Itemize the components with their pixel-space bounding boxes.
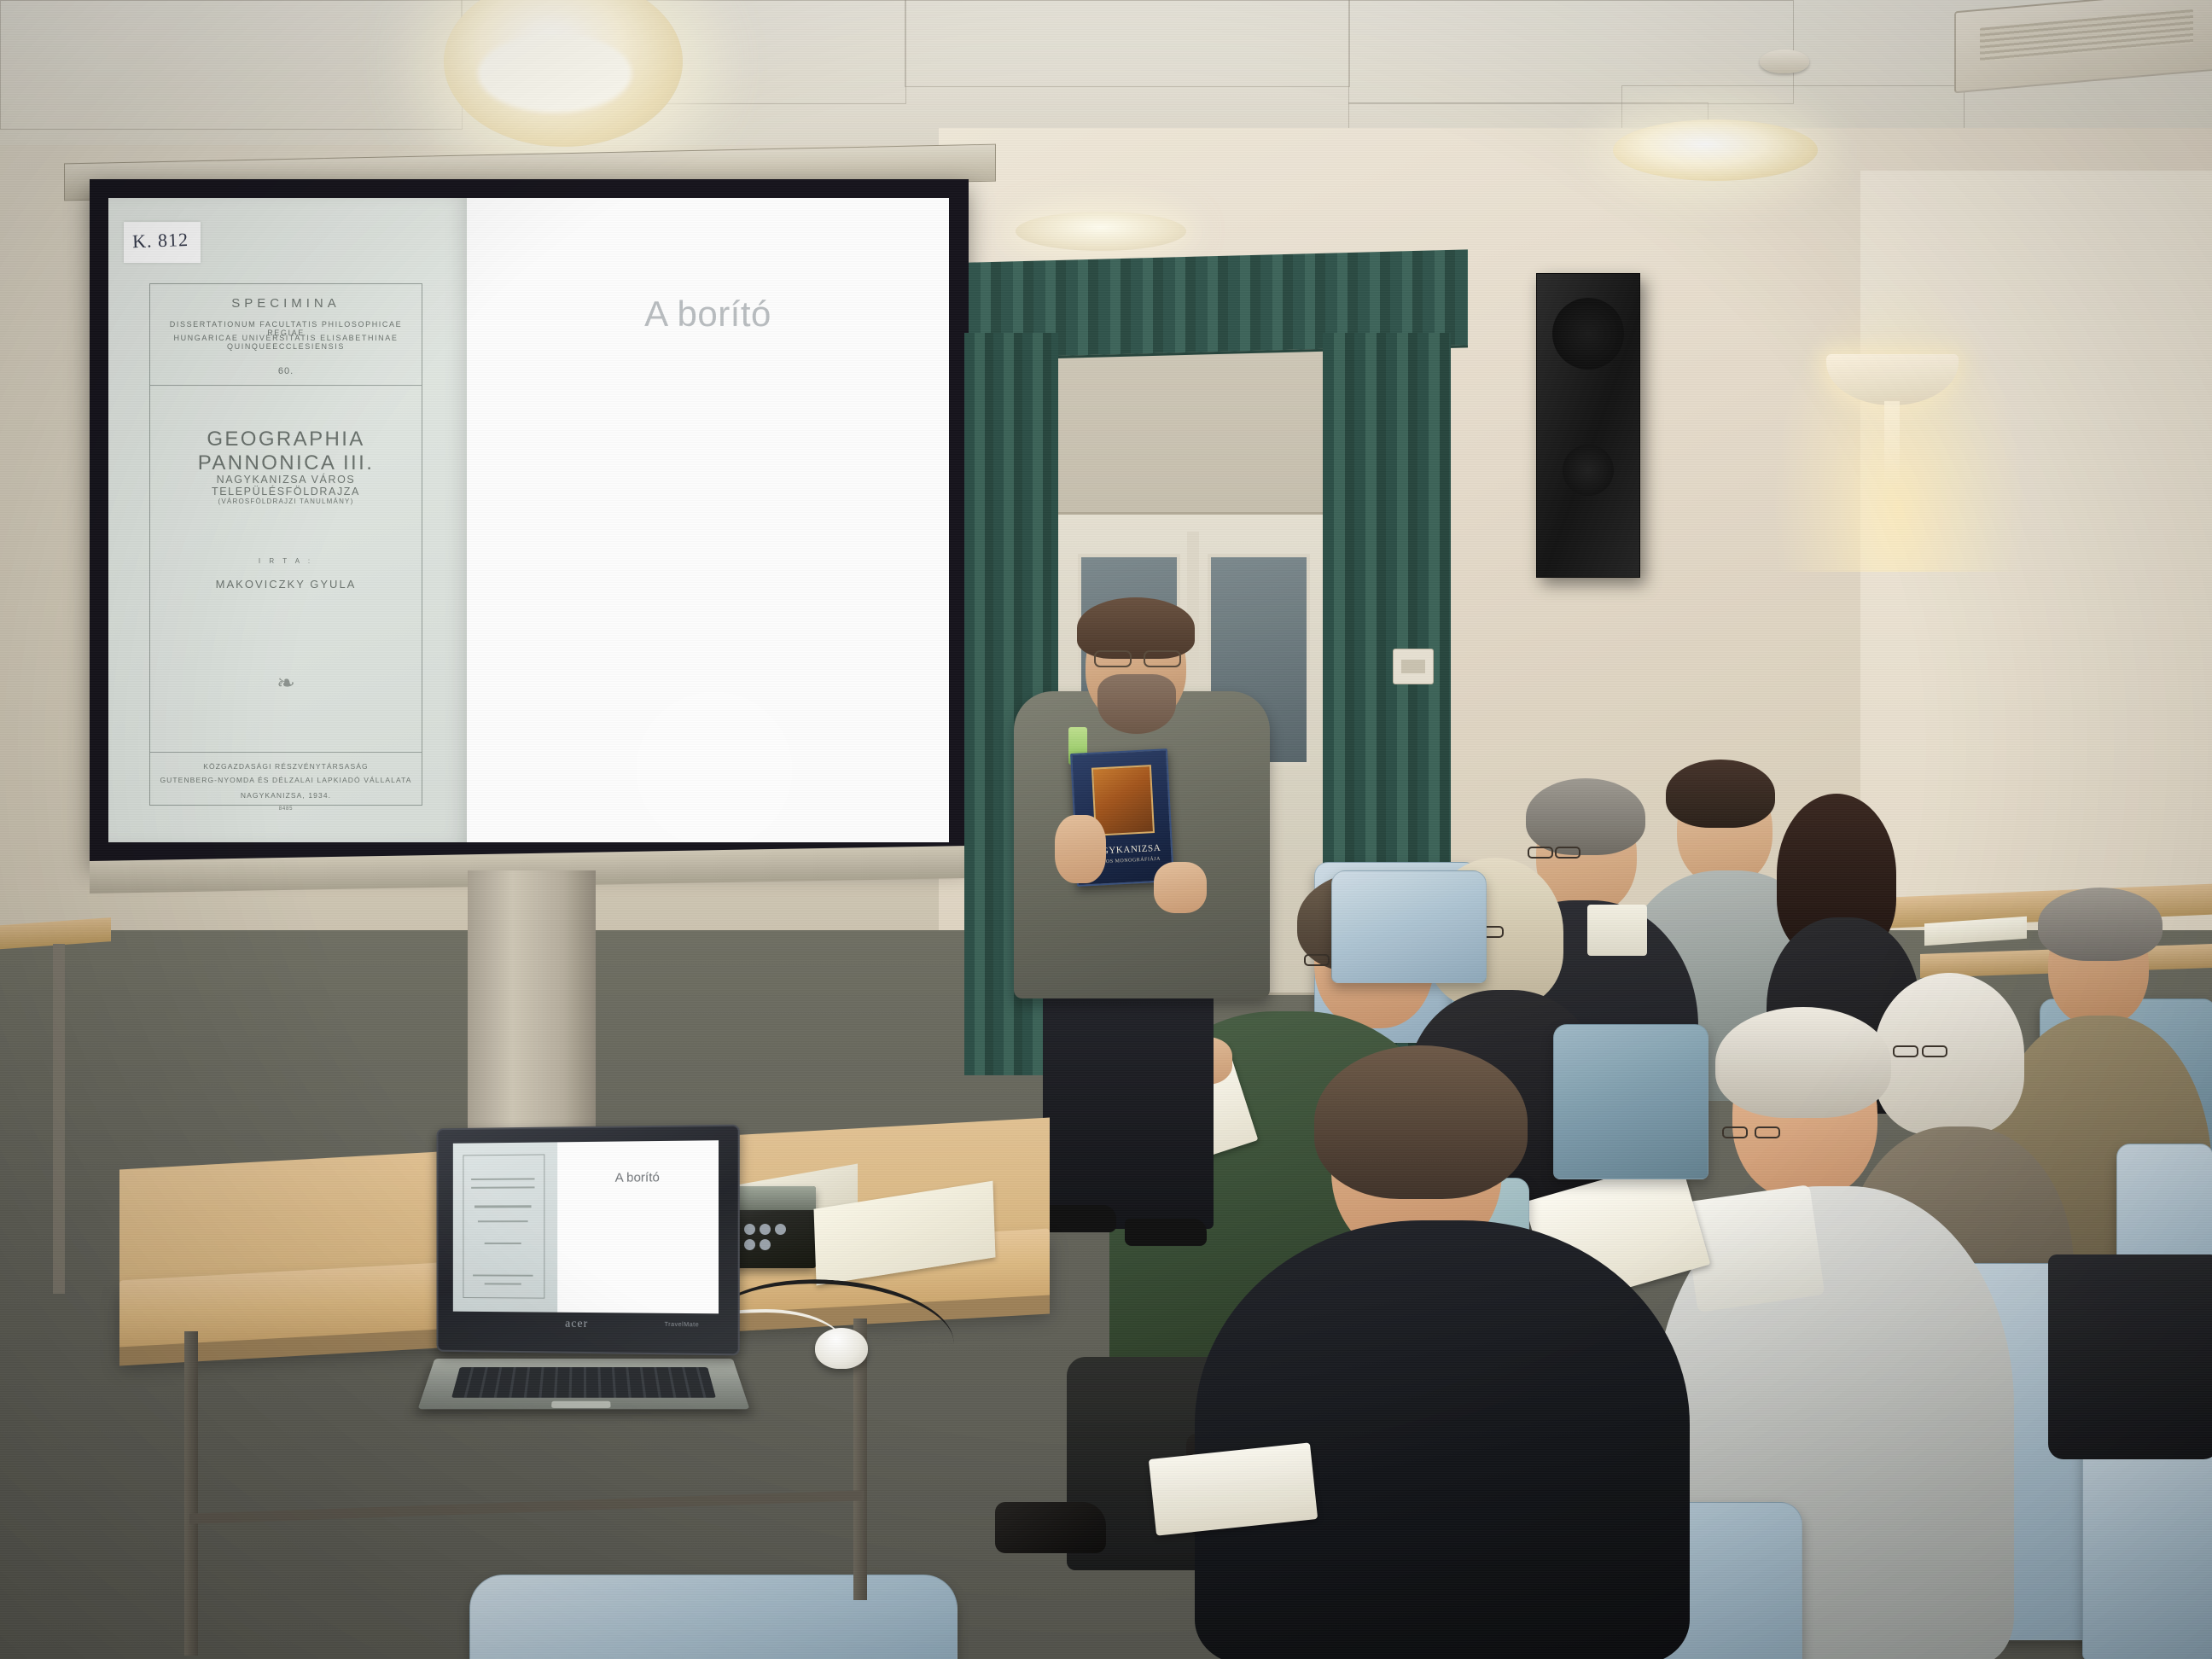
audience-hair (2038, 888, 2163, 961)
presenter-beard (1097, 674, 1176, 734)
chair[interactable] (1553, 1024, 1708, 1179)
shirt-collar (1587, 905, 1647, 956)
glasses-icon (1094, 650, 1179, 664)
presenter-legs (1043, 981, 1214, 1229)
cover-line-2: HUNGARICAE UNIVERSITATIS ELISABETHINAE Q… (150, 334, 422, 351)
glasses-icon (1893, 1045, 1956, 1054)
chair[interactable] (1331, 870, 1487, 983)
chair[interactable] (469, 1575, 958, 1659)
cover-specimina: SPECIMINA (150, 296, 422, 311)
glasses-icon (1528, 847, 1587, 855)
slide-title: A borító (467, 294, 949, 335)
library-sticker: K. 812 (124, 222, 201, 263)
cover-imprint-2: GUTENBERG-NYOMDA ÉS DÉLZALAI LAPKIADÓ VÁ… (150, 776, 422, 784)
cover-author-label: I R T A : (150, 557, 422, 565)
audience-hair (1666, 760, 1775, 828)
shoe (995, 1502, 1106, 1553)
ceiling-tile (905, 0, 1350, 87)
laptop-base (417, 1359, 749, 1409)
laptop-brand: acer (565, 1318, 588, 1331)
ceiling-tile (0, 0, 463, 130)
chair[interactable] (2082, 1434, 2212, 1659)
wall-speaker-icon (1536, 273, 1640, 578)
audience-hair (1526, 778, 1645, 855)
cover-imprint-3: NAGYKANIZSA, 1934. (150, 791, 422, 800)
lamp-core (478, 34, 632, 113)
laptop[interactable]: A borító acer TravelMate (427, 1126, 742, 1425)
laptop-keyboard[interactable] (451, 1367, 716, 1398)
wall-outlet-icon (1393, 649, 1434, 684)
cover-imprint-1: KÖZGAZDASÁGI RÉSZVÉNYTÁRSASÁG (150, 762, 422, 771)
cover-author: MAKOVICZKY GYULA (150, 578, 422, 591)
slide-book-cover-image: K. 812 SPECIMINA DISSERTATIONUM FACULTAT… (108, 198, 467, 842)
bag (2048, 1254, 2212, 1459)
laptop-touchpad[interactable] (551, 1401, 611, 1408)
hand (1055, 815, 1106, 883)
recessed-ceiling-light-icon (1016, 212, 1186, 251)
cover-ornament-icon: ❧ (150, 670, 422, 696)
slide-right-panel: A borító (467, 198, 949, 842)
cover-imprint-4: 8485 (150, 806, 422, 812)
cover-subtitle: NAGYKANIZSA VÁROS TELEPÜLÉSFÖLDRAJZA (150, 474, 422, 498)
recessed-ceiling-light-icon (1613, 119, 1818, 181)
cover-border-box: SPECIMINA DISSERTATIONUM FACULTATIS PHIL… (149, 283, 422, 806)
shoe (1125, 1219, 1207, 1246)
laptop-slide-cover-thumb (453, 1142, 557, 1312)
library-sticker-code: K. 812 (123, 220, 201, 253)
table-leg (184, 1331, 198, 1656)
audience-hair (1715, 1007, 1891, 1118)
projected-slide: K. 812 SPECIMINA DISSERTATIONUM FACULTAT… (108, 198, 949, 842)
laptop-slide-right: A borító (557, 1140, 719, 1313)
cover-main-title: GEOGRAPHIA PANNONICA III. (150, 428, 422, 475)
side-table-leg (53, 944, 65, 1294)
laptop-screen: A borító (453, 1140, 719, 1313)
audience-hair (1314, 1045, 1528, 1199)
cover-series-number: 60. (150, 366, 422, 376)
conference-room-photo: K. 812 SPECIMINA DISSERTATIONUM FACULTAT… (0, 0, 2212, 1659)
laptop-model: TravelMate (665, 1322, 700, 1328)
smoke-detector-icon (1760, 49, 1809, 73)
sconce-stem (1884, 401, 1900, 486)
computer-mouse[interactable] (815, 1328, 868, 1369)
laptop-lid: A borító acer TravelMate (437, 1125, 740, 1356)
projection-screen: K. 812 SPECIMINA DISSERTATIONUM FACULTAT… (90, 179, 969, 862)
cover-subtitle-2: (VÁROSFÖLDRAJZI TANULMÁNY) (150, 498, 422, 505)
hand (1154, 862, 1207, 913)
audience-body (1195, 1220, 1690, 1659)
laptop-slide-title: A borító (557, 1170, 719, 1185)
screen-support-pillar (468, 870, 596, 1144)
glasses-icon (1722, 1126, 1790, 1135)
